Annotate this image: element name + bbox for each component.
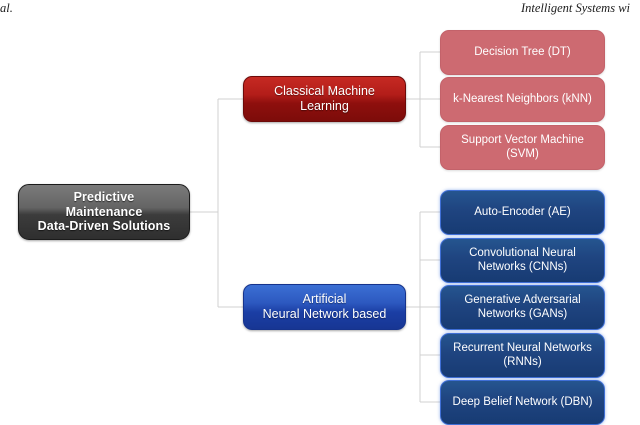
classical-machine-learning-line-1: Classical Machine (274, 84, 375, 99)
generative-adversarial-networks-label: Generative Adversarial Networks (GANs) (464, 294, 580, 321)
root-label-line-2: Maintenance (38, 205, 171, 220)
decision-tree-line-1: Decision Tree (DT) (474, 46, 571, 60)
support-vector-machine-line-1: Support Vector Machine (461, 134, 584, 148)
root-label: Predictive Maintenance Data-Driven Solut… (38, 190, 171, 234)
artificial-neural-network-line-2: Neural Network based (263, 307, 387, 322)
artificial-neural-network-line-1: Artificial (263, 292, 387, 307)
node-support-vector-machine[interactable]: Support Vector Machine (SVM) (440, 125, 605, 170)
support-vector-machine-label: Support Vector Machine (SVM) (461, 134, 584, 161)
support-vector-machine-line-2: (SVM) (461, 148, 584, 162)
k-nearest-neighbors-line-1: k-Nearest Neighbors (kNN) (453, 93, 592, 107)
node-artificial-neural-network-based[interactable]: Artificial Neural Network based (243, 284, 406, 330)
recurrent-neural-networks-line-1: Recurrent Neural Networks (453, 342, 592, 356)
artificial-neural-network-label: Artificial Neural Network based (263, 292, 387, 322)
node-predictive-maintenance-root[interactable]: Predictive Maintenance Data-Driven Solut… (18, 184, 190, 240)
convolutional-neural-networks-line-1: Convolutional Neural (469, 247, 576, 261)
decision-tree-label: Decision Tree (DT) (474, 46, 571, 60)
root-label-line-3: Data-Driven Solutions (38, 219, 171, 234)
classical-machine-learning-line-2: Learning (274, 99, 375, 114)
diagram-page: al. Intelligent Systems wi (0, 0, 640, 425)
auto-encoder-line-1: Auto-Encoder (AE) (474, 206, 571, 220)
recurrent-neural-networks-label: Recurrent Neural Networks (RNNs) (453, 342, 592, 369)
node-generative-adversarial-networks[interactable]: Generative Adversarial Networks (GANs) (440, 285, 605, 330)
deep-belief-network-label: Deep Belief Network (DBN) (453, 396, 593, 410)
node-k-nearest-neighbors[interactable]: k-Nearest Neighbors (kNN) (440, 77, 605, 122)
k-nearest-neighbors-label: k-Nearest Neighbors (kNN) (453, 93, 592, 107)
generative-adversarial-networks-line-1: Generative Adversarial (464, 294, 580, 308)
node-decision-tree[interactable]: Decision Tree (DT) (440, 30, 605, 75)
generative-adversarial-networks-line-2: Networks (GANs) (464, 308, 580, 322)
deep-belief-network-line-1: Deep Belief Network (DBN) (453, 396, 593, 410)
node-convolutional-neural-networks[interactable]: Convolutional Neural Networks (CNNs) (440, 238, 605, 283)
convolutional-neural-networks-line-2: Networks (CNNs) (469, 261, 576, 275)
auto-encoder-label: Auto-Encoder (AE) (474, 206, 571, 220)
node-deep-belief-network[interactable]: Deep Belief Network (DBN) (440, 380, 605, 425)
node-classical-machine-learning[interactable]: Classical Machine Learning (243, 76, 406, 122)
convolutional-neural-networks-label: Convolutional Neural Networks (CNNs) (469, 247, 576, 274)
recurrent-neural-networks-line-2: (RNNs) (453, 356, 592, 370)
node-recurrent-neural-networks[interactable]: Recurrent Neural Networks (RNNs) (440, 333, 605, 378)
node-auto-encoder[interactable]: Auto-Encoder (AE) (440, 190, 605, 235)
classical-machine-learning-label: Classical Machine Learning (274, 84, 375, 114)
root-label-line-1: Predictive (38, 190, 171, 205)
